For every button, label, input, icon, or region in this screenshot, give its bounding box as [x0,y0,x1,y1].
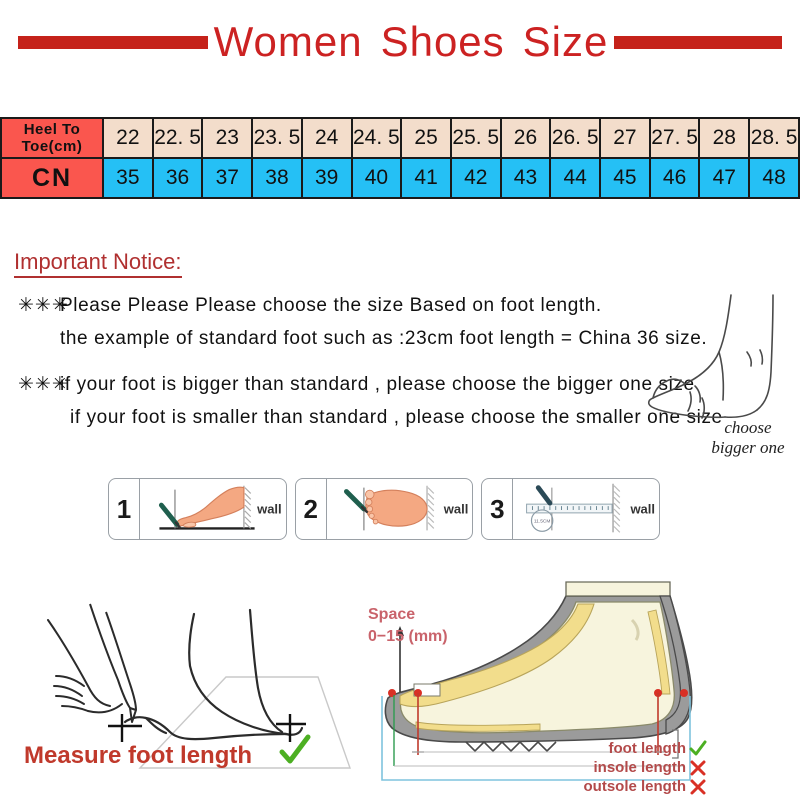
cell-cn-11: 46 [650,158,700,198]
check-icon-foot-length [689,740,707,758]
cross-icon-insole-length [689,759,707,777]
cell-cn-4: 39 [302,158,352,198]
title-bar-left [18,36,208,49]
legend-row-insole-length: insole length [477,758,707,777]
row-label-cn: CN [1,158,103,198]
step-3-number: 3 [482,479,513,539]
table-row-cn: CN 35 36 37 38 39 40 41 42 43 44 45 46 4… [1,158,799,198]
step-3-wall-label: wall [630,502,655,517]
step-2-number: 2 [296,479,327,539]
size-chart-page: WomenShoesSize Heel To Toe(cm) 22 22. 5 … [0,0,800,800]
step-2-illustration: wall [327,479,473,539]
choose-caption-line-1: choose [693,418,800,438]
step-2-wall-label: wall [444,502,469,517]
table-row-heel-to-toe: Heel To Toe(cm) 22 22. 5 23 23. 5 24 24.… [1,118,799,158]
measure-steps: 1 [108,478,660,540]
step-1: 1 [108,478,287,540]
choose-caption-line-2: bigger one [693,438,800,458]
cell-cn-12: 47 [699,158,749,198]
space-label-line-1: Space [368,604,448,626]
cell-cm-2: 23 [202,118,252,158]
legend-row-foot-length: foot length [477,739,707,758]
measure-foot-length-caption: Measure foot length [24,742,252,770]
cell-cn-0: 35 [103,158,153,198]
legend-label-insole-length: insole length [593,758,686,777]
legend-row-outsole-length: outsole length [477,777,707,796]
cell-cm-0: 22 [103,118,153,158]
cell-cm-10: 27 [600,118,650,158]
legend-label-foot-length: foot length [609,739,686,758]
check-icon-measure [278,734,312,768]
cell-cn-8: 43 [501,158,551,198]
space-gap-label: Space 0−15 (mm) [368,604,448,647]
cell-cn-3: 38 [252,158,302,198]
step-3-illustration: 11.5CM wall [513,479,659,539]
step-3: 3 [481,478,660,540]
page-title: WomenShoesSize [208,21,615,63]
cell-cn-2: 37 [202,158,252,198]
cell-cm-12: 28 [699,118,749,158]
page-title-row: WomenShoesSize [0,14,800,70]
cell-cn-6: 41 [401,158,451,198]
title-bar-right [614,36,782,49]
title-word-women: Women [214,18,363,65]
cell-cm-3: 23. 5 [252,118,302,158]
cell-cn-10: 45 [600,158,650,198]
size-conversion-table: Heel To Toe(cm) 22 22. 5 23 23. 5 24 24.… [0,117,800,199]
cell-cn-5: 40 [352,158,402,198]
cross-icon-outsole-length [689,778,707,796]
cell-cm-8: 26 [501,118,551,158]
title-word-shoes: Shoes [381,18,505,65]
space-label-line-2: 0−15 (mm) [368,626,448,648]
cell-cn-1: 36 [153,158,203,198]
cell-cn-13: 48 [749,158,799,198]
asterisk-marker-1: ✳✳✳ [18,292,60,321]
cell-cm-1: 22. 5 [153,118,203,158]
cell-cm-5: 24. 5 [352,118,402,158]
asterisk-marker-2: ✳✳✳ [18,371,60,400]
step-1-illustration: wall [140,479,286,539]
cell-cm-6: 25 [401,118,451,158]
step-2: 2 [295,478,474,540]
cell-cm-9: 26. 5 [550,118,600,158]
cell-cm-13: 28. 5 [749,118,799,158]
title-word-size: Size [523,18,609,65]
cell-cm-4: 24 [302,118,352,158]
cell-cm-7: 25. 5 [451,118,501,158]
step-3-magnifier-value: 11.5CM [534,519,551,525]
legend-label-outsole-length: outsole length [584,777,687,796]
step-1-number: 1 [109,479,140,539]
shoe-length-legend: foot length insole length outsole length [477,739,707,797]
cell-cm-11: 27. 5 [650,118,700,158]
cell-cn-7: 42 [451,158,501,198]
row-label-heel-to-toe: Heel To Toe(cm) [1,118,103,158]
step-1-wall-label: wall [257,502,282,517]
cell-cn-9: 44 [550,158,600,198]
choose-bigger-one-caption: choose bigger one [693,418,800,457]
important-notice-heading: Important Notice: [14,250,182,278]
